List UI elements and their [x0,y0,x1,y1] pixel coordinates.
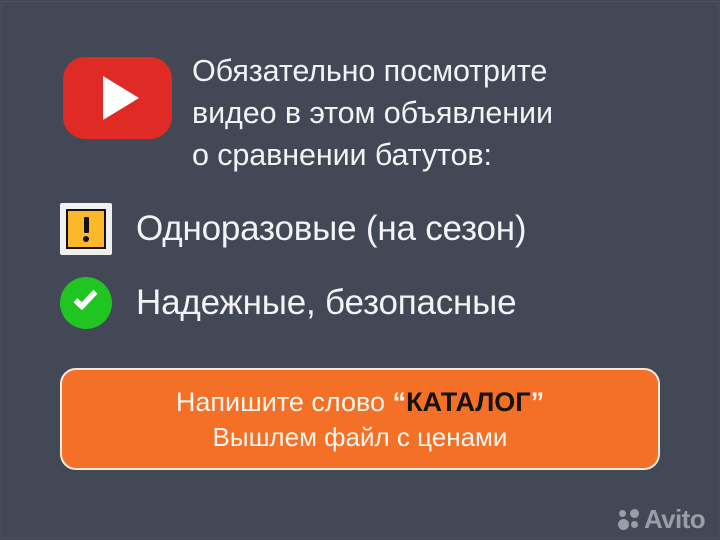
play-triangle-icon [103,76,139,120]
feature-row-reliable: Надежные, безопасные [60,277,516,329]
youtube-play-icon [63,57,172,139]
ad-banner: Обязательно посмотрите видео в этом объя… [0,0,720,540]
feature-label-reliable: Надежные, безопасные [136,283,516,323]
avito-wordmark: Avito [644,506,705,532]
feature-label-disposable: Одноразовые (на сезон) [136,209,526,249]
avito-watermark: Avito [618,506,705,532]
headline-line-2: видео в этом объявлении [192,92,553,134]
exclamation-bar [84,217,89,233]
cta-primary-text: Напишите слово “КАТАЛОГ” [176,385,544,419]
feature-row-disposable: Одноразовые (на сезон) [60,203,526,255]
headline-text: Обязательно посмотрите видео в этом объя… [192,50,553,176]
cta-secondary-text: Вышлем файл с ценами [213,421,508,453]
cta-keyword: КАТАЛОГ [406,387,531,417]
cta-open-quote: “ [393,387,407,417]
cta-prefix-text: Напишите слово [176,387,393,417]
check-circle-icon [60,277,112,329]
headline-block: Обязательно посмотрите видео в этом объя… [63,50,553,176]
cta-close-quote: ” [531,387,545,417]
headline-line-1: Обязательно посмотрите [192,50,553,92]
avito-dots-icon [618,508,640,530]
headline-line-3: о сравнении батутов: [192,134,553,176]
avito-dot-1 [618,519,629,530]
cta-button[interactable]: Напишите слово “КАТАЛОГ” Вышлем файл с ц… [60,368,660,470]
avito-dot-4 [631,521,638,528]
checkmark-glyph [73,285,97,310]
avito-dot-2 [619,510,626,517]
exclamation-dot [83,236,89,242]
avito-dot-3 [630,509,639,518]
warning-icon-inner [66,209,106,249]
warning-exclamation-icon [60,203,112,255]
